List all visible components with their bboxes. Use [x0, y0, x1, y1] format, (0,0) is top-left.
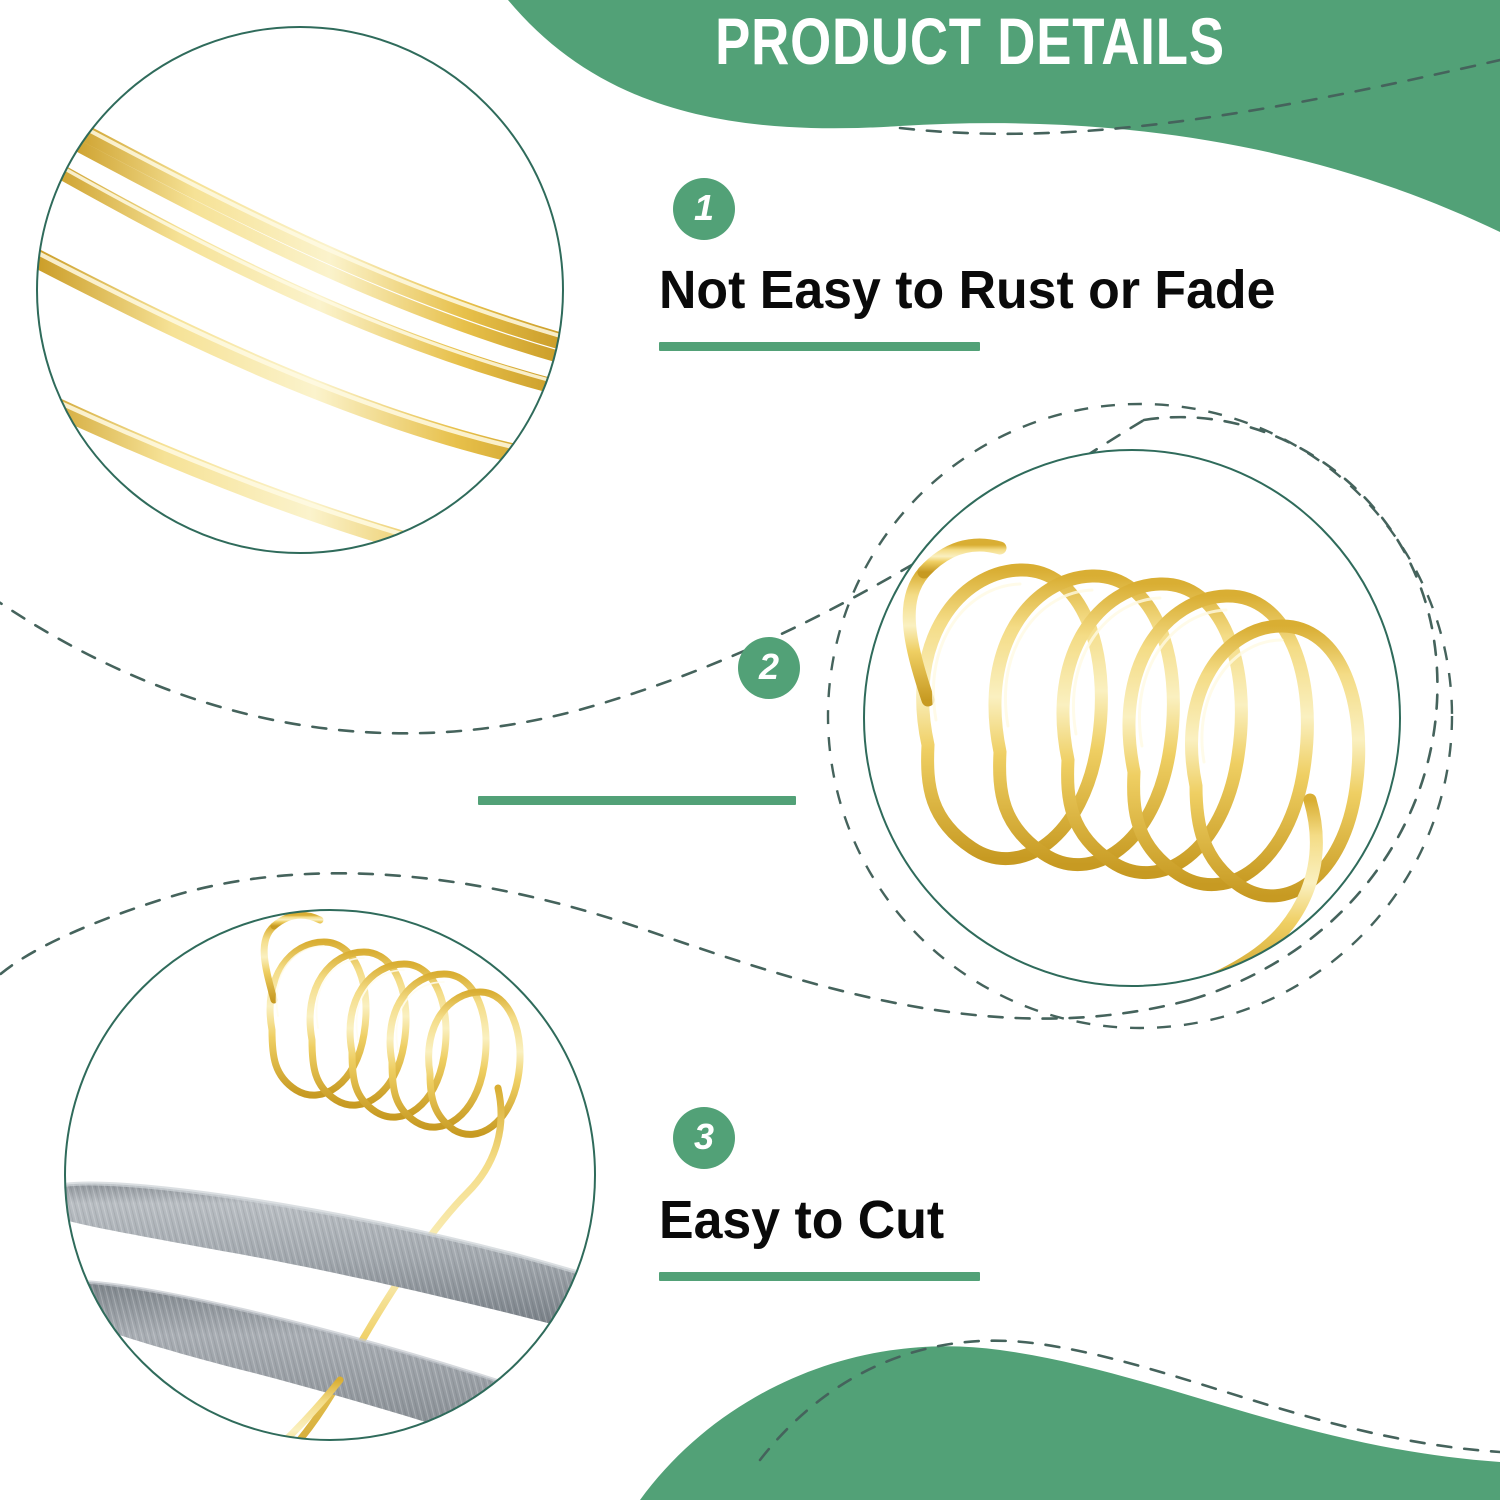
feature-number-badge-1: 1: [673, 178, 735, 240]
feature-number-badge-2: 2: [738, 637, 800, 699]
feature-number-1: 1: [694, 190, 714, 226]
feature-number-3: 3: [694, 1119, 714, 1155]
product-details-infographic: PRODUCT DETAILS 1 Not Easy to Rust or Fa…: [0, 0, 1500, 1500]
feature-number-2: 2: [759, 649, 779, 685]
feature-underline-2: [478, 796, 796, 805]
photo-circle-gold-coil: [864, 450, 1400, 998]
footer-green-wave: [640, 1346, 1500, 1500]
page-title: PRODUCT DETAILS: [682, 8, 1258, 74]
feature-title-1: Not Easy to Rust or Fade: [659, 262, 1275, 319]
feature-number-badge-3: 3: [673, 1107, 735, 1169]
feature-title-3: Easy to Cut: [659, 1192, 944, 1249]
feature-underline-1: [659, 342, 980, 351]
feature-underline-3: [659, 1272, 980, 1281]
photo-circle-scissors-cut: [52, 910, 660, 1500]
